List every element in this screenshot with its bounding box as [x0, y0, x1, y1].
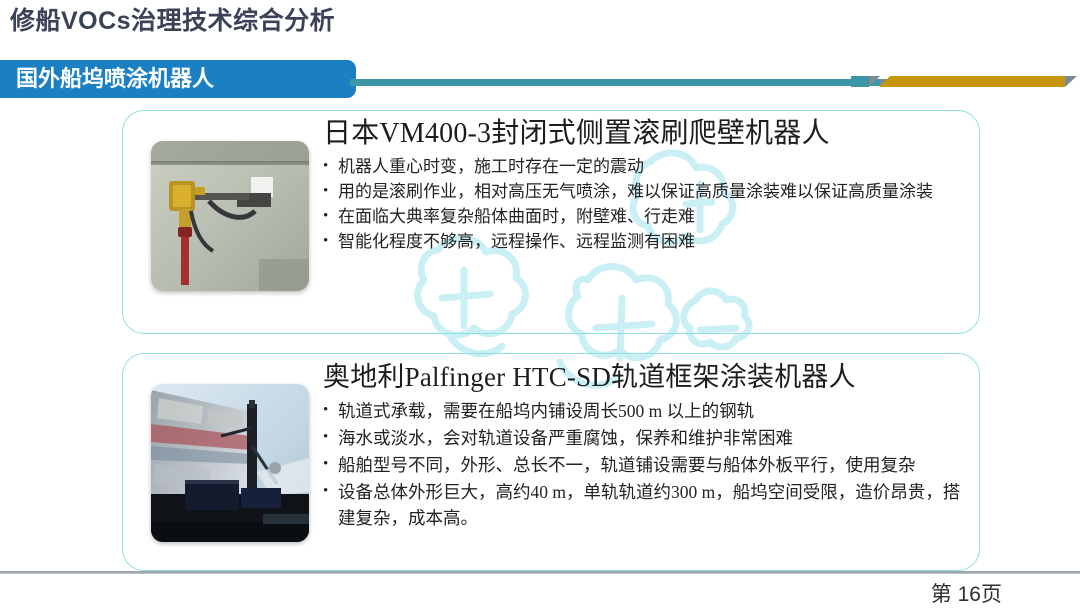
slide-canvas: 修船VOCs治理技术综合分析 国外船坞喷涂机器人	[0, 0, 1080, 608]
gold-bar-right-tip-icon	[1065, 76, 1077, 87]
card-bullet-list: 轨道式承载，需要在船坞内铺设周长500 m 以上的钢轨 海水或淡水，会对轨道设备…	[323, 398, 971, 531]
list-item: 船舶型号不同，外形、总长不一，轨道铺设需要与船体外板平行，使用复杂	[323, 452, 971, 478]
list-item: 设备总体外形巨大，高约40 m，单轨轨道约300 m，船坞空间受限，造价昂贵，搭…	[323, 479, 971, 531]
list-item: 智能化程度不够高，远程操作、远程监测有困难	[323, 230, 971, 254]
page-number: 第 16页	[931, 578, 1002, 608]
card-heading: 奥地利Palfinger HTC-SD轨道框架涂装机器人	[323, 358, 971, 396]
tab-teal-rule	[350, 79, 880, 86]
list-item: 轨道式承载，需要在船坞内铺设周长500 m 以上的钢轨	[323, 398, 971, 424]
rail-frame-painting-robot-photo	[151, 384, 309, 542]
list-item: 在面临大典率复杂船体曲面时，附壁难、行走难	[323, 205, 971, 229]
card-body: 奥地利Palfinger HTC-SD轨道框架涂装机器人 轨道式承载，需要在船坞…	[323, 358, 971, 532]
teal-chip-decoration	[851, 76, 869, 87]
section-tab: 国外船坞喷涂机器人	[0, 60, 356, 98]
card-heading: 日本VM400-3封闭式侧置滚刷爬壁机器人	[323, 115, 971, 153]
card-bullet-list: 机器人重心时变，施工时存在一定的震动 用的是滚刷作业，相对高压无气喷涂，难以保证…	[323, 155, 971, 254]
list-item: 用的是滚刷作业，相对高压无气喷涂，难以保证高质量涂装难以保证高质量涂装	[323, 180, 971, 204]
section-tab-label: 国外船坞喷涂机器人	[16, 65, 214, 93]
card-body: 日本VM400-3封闭式侧置滚刷爬壁机器人 机器人重心时变，施工时存在一定的震动…	[323, 115, 971, 255]
page-title: 修船VOCs治理技术综合分析	[10, 4, 335, 38]
wall-climbing-robot-photo	[151, 141, 309, 291]
footer-divider	[0, 571, 1080, 574]
info-card: 奥地利Palfinger HTC-SD轨道框架涂装机器人 轨道式承载，需要在船坞…	[122, 353, 980, 571]
list-item: 机器人重心时变，施工时存在一定的震动	[323, 155, 971, 179]
list-item: 海水或淡水，会对轨道设备严重腐蚀，保养和维护非常困难	[323, 425, 971, 451]
info-card: 日本VM400-3封闭式侧置滚刷爬壁机器人 机器人重心时变，施工时存在一定的震动…	[122, 110, 980, 334]
gold-bar-left-tip-icon	[879, 76, 890, 87]
gold-accent-bar	[890, 76, 1065, 87]
